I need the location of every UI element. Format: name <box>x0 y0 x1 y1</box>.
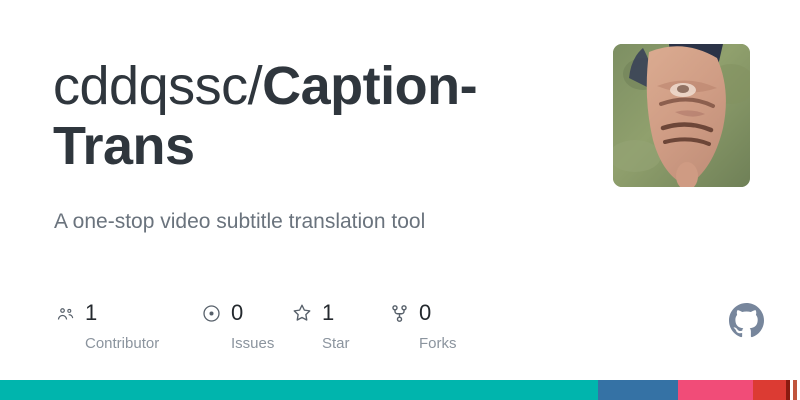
avatar <box>613 44 750 187</box>
language-segment-0 <box>0 380 598 400</box>
repo-social-preview-card: cddqssc/Caption-Trans A one-stop video s… <box>0 0 800 400</box>
language-segment-3 <box>753 380 786 400</box>
people-icon <box>54 302 76 324</box>
stat-issues-value: 0 <box>231 302 243 324</box>
stat-star-top: 1 <box>291 300 334 326</box>
stat-forks[interactable]: 0 Forks <box>388 300 478 352</box>
stat-forks-label: Forks <box>419 335 457 352</box>
language-bar <box>0 380 800 400</box>
stat-issues-label: Issues <box>231 335 274 352</box>
language-segment-1 <box>598 380 678 400</box>
fork-icon <box>388 302 410 324</box>
issue-opened-icon <box>200 302 222 324</box>
page-title: cddqssc/Caption-Trans <box>53 56 573 177</box>
repo-stats: 1 Contributor 0 Issues <box>54 300 478 352</box>
stat-star[interactable]: 1 Star <box>291 300 388 352</box>
stat-issues[interactable]: 0 Issues <box>200 300 291 352</box>
stat-issues-top: 0 <box>200 300 243 326</box>
repo-separator: / <box>248 56 263 116</box>
stat-contributor[interactable]: 1 Contributor <box>54 300 200 352</box>
repo-owner: cddqssc <box>53 56 248 116</box>
stat-contributor-value: 1 <box>85 302 97 324</box>
github-logo-icon <box>729 303 764 338</box>
avatar-image <box>613 44 750 187</box>
stat-forks-value: 0 <box>419 302 431 324</box>
language-segment-2 <box>678 380 753 400</box>
stat-contributor-top: 1 <box>54 300 97 326</box>
star-icon <box>291 302 313 324</box>
stat-star-label: Star <box>322 335 350 352</box>
stat-contributor-label: Contributor <box>85 335 159 352</box>
repo-description: A one-stop video subtitle translation to… <box>54 208 594 236</box>
stat-forks-top: 0 <box>388 300 431 326</box>
stat-star-value: 1 <box>322 302 334 324</box>
